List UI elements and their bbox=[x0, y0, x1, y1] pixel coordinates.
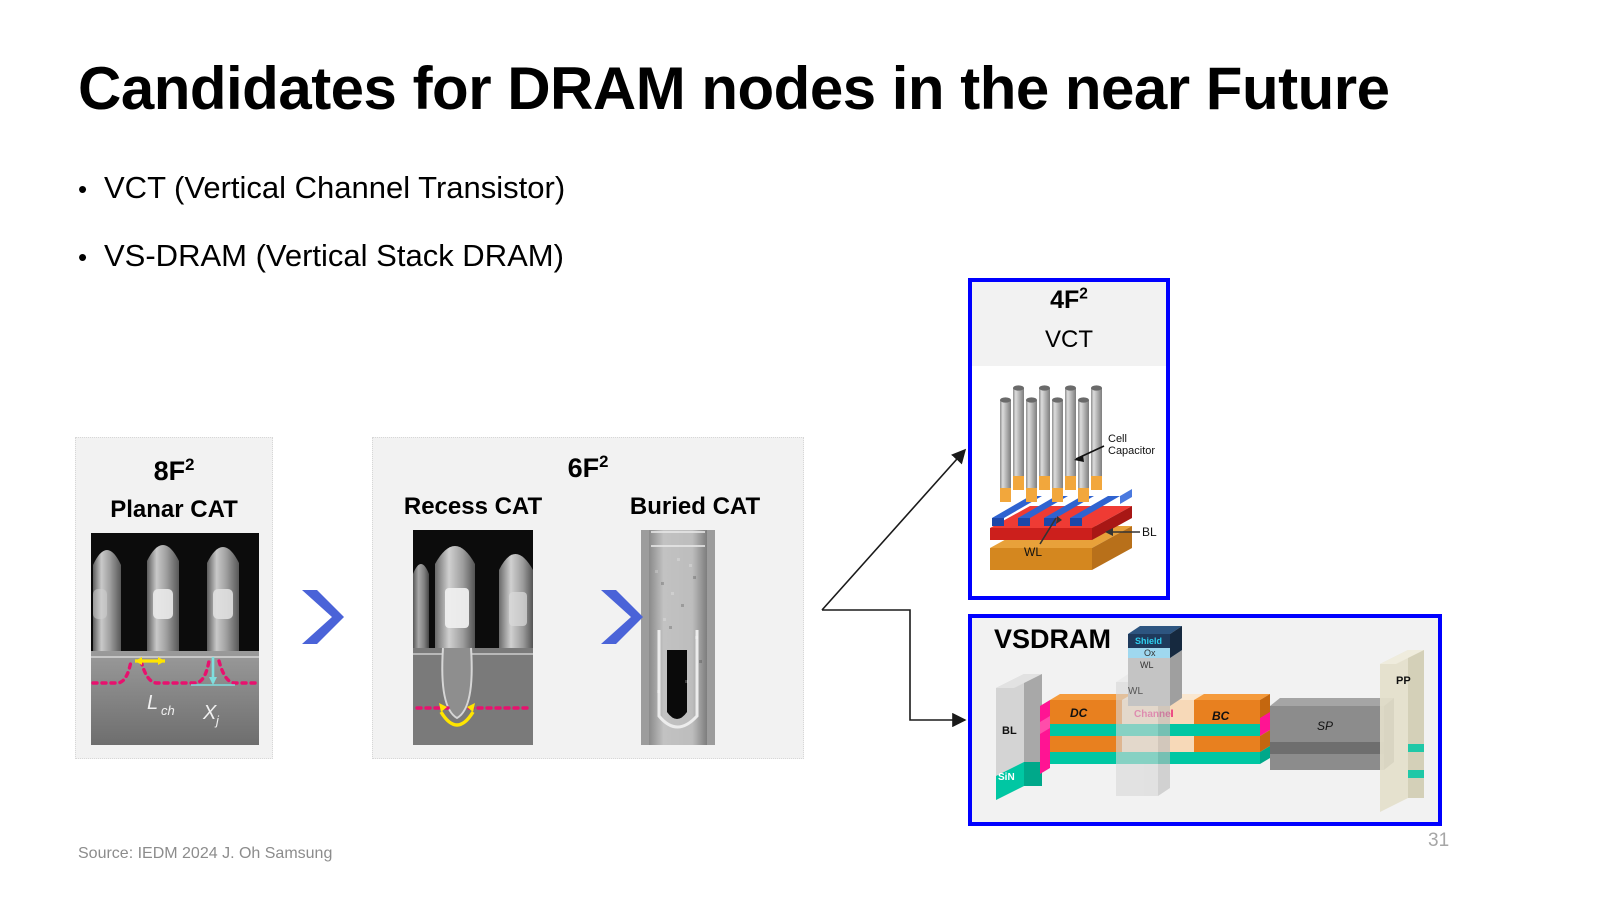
label-pp: PP bbox=[1396, 675, 1411, 687]
svg-text:Cell: Cell bbox=[1108, 433, 1127, 445]
label-ox: Ox bbox=[1144, 648, 1156, 658]
panel-8f2: 8F2 Planar CAT bbox=[75, 437, 273, 759]
chevron-recess-to-buried-icon bbox=[598, 586, 644, 648]
tem-image-recess-cat bbox=[413, 530, 533, 745]
bullet-text: VCT (Vertical Channel Transistor) bbox=[104, 170, 565, 206]
vct-name-label: VCT bbox=[972, 326, 1166, 354]
panel-6f2-cell-label-recess: Recess CAT bbox=[383, 493, 563, 521]
panel-6f2-cell-label-buried: Buried CAT bbox=[605, 493, 785, 521]
svg-text:ch: ch bbox=[161, 703, 175, 718]
label-bl: BL bbox=[1002, 725, 1017, 737]
slide-canvas: Candidates for DRAM nodes in the near Fu… bbox=[0, 0, 1600, 900]
panel-vct-4f2: 4F2 VCT bbox=[968, 278, 1170, 600]
panel-6f2-node-label: 6F2 bbox=[373, 453, 803, 484]
label-sin: SiN bbox=[998, 772, 1015, 783]
svg-text:BL: BL bbox=[1142, 525, 1157, 539]
source-citation: Source: IEDM 2024 J. Oh Samsung bbox=[78, 845, 332, 863]
panel-8f2-node-label: 8F2 bbox=[76, 456, 272, 487]
label-wl-front: WL bbox=[1128, 686, 1143, 697]
bullet-marker: • bbox=[78, 244, 104, 270]
bullet-item-vct: • VCT (Vertical Channel Transistor) bbox=[78, 170, 565, 206]
bullet-item-vsdram: • VS-DRAM (Vertical Stack DRAM) bbox=[78, 238, 564, 274]
page-title: Candidates for DRAM nodes in the near Fu… bbox=[78, 56, 1389, 122]
panel-vsdram: VSDRAM BL SiN bbox=[968, 614, 1442, 826]
panel-6f2: 6F2 Recess CAT Buried CAT bbox=[372, 437, 804, 759]
label-sp: SP bbox=[1317, 719, 1333, 733]
label-dc: DC bbox=[1070, 706, 1088, 720]
vsdram-title: VSDRAM bbox=[994, 624, 1111, 655]
label-wl-top: WL bbox=[1140, 660, 1154, 670]
arrow-to-vsdram bbox=[822, 610, 965, 720]
bullet-text: VS-DRAM (Vertical Stack DRAM) bbox=[104, 238, 564, 274]
vct-node-label: 4F2 bbox=[972, 286, 1166, 315]
vsd-bc-block bbox=[1194, 694, 1270, 764]
label-junction-depth: X bbox=[202, 702, 217, 724]
connector-arrows bbox=[800, 420, 980, 740]
vsd-magenta-edge bbox=[1040, 700, 1050, 774]
page-number: 31 bbox=[1428, 830, 1449, 852]
label-bc: BC bbox=[1212, 709, 1230, 723]
svg-text:WL: WL bbox=[1024, 545, 1042, 559]
bullet-marker: • bbox=[78, 176, 104, 202]
arrow-to-vct bbox=[822, 450, 965, 610]
svg-text:Capacitor: Capacitor bbox=[1108, 445, 1155, 457]
panel-8f2-cell-label: Planar CAT bbox=[76, 496, 272, 524]
tem-image-planar-cat: L ch X j bbox=[91, 533, 259, 745]
tem-image-buried-cat bbox=[641, 530, 715, 745]
label-channel-length: L bbox=[147, 692, 158, 714]
chevron-8f2-to-6f2-icon bbox=[299, 586, 345, 648]
label-shield: Shield bbox=[1135, 636, 1162, 646]
vsd-storage-plate bbox=[1270, 698, 1394, 770]
vct-schematic: Cell Capacitor WL BL bbox=[972, 366, 1166, 596]
